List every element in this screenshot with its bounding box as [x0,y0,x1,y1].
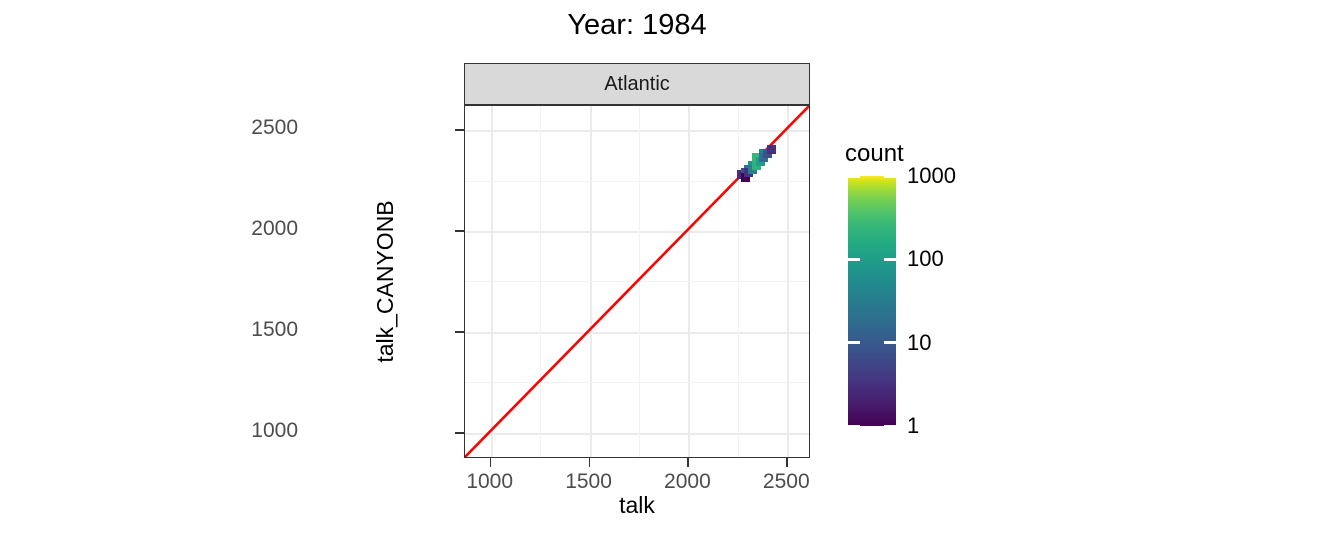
legend-tick-label: 10 [907,330,931,356]
x-axis-title: talk [464,492,810,519]
legend-tick-label: 1000 [907,163,956,189]
x-axis-tick-label: 1500 [534,470,644,494]
legend-colorbar [848,176,896,426]
facet-strip: Atlantic [464,63,810,105]
legend-tick-mark [884,258,896,261]
x-axis-tick-mark [687,458,689,467]
legend-tick-mark [848,425,860,428]
x-axis-tick-label: 1000 [435,470,545,494]
legend-tick-mark [848,341,860,344]
x-axis-tick-mark [490,458,492,467]
legend-tick-mark [884,341,896,344]
legend-tick-mark [884,425,896,428]
y-axis-tick-label: 2500 [188,116,298,140]
y-axis-tick-mark [455,432,464,434]
legend-tick-mark [848,175,860,178]
legend-tick-mark [884,175,896,178]
y-axis-tick-mark [455,331,464,333]
y-axis-tick-label: 1500 [188,318,298,342]
plot-figure: Year: 1984 Atlantic 1000150020002500 100… [0,0,1344,537]
data-point [767,145,776,154]
legend-title: count [845,140,904,168]
x-axis-tick-mark [786,458,788,467]
x-axis-tick-label: 2000 [632,470,742,494]
page-title: Year: 1984 [464,8,810,42]
y-axis-tick-label: 1000 [188,419,298,443]
y-axis-title: talk_CANYONB [372,105,399,458]
x-axis-tick-label: 2500 [731,470,841,494]
legend-tick-label: 100 [907,246,944,272]
y-axis-tick-label: 2000 [188,217,298,241]
plot-panel [464,105,810,458]
legend-tick-label: 1 [907,413,919,439]
legend-tick-mark [848,258,860,261]
y-axis-tick-mark [455,230,464,232]
facet-strip-label: Atlantic [604,73,670,96]
x-axis-tick-mark [589,458,591,467]
y-axis-tick-mark [455,129,464,131]
